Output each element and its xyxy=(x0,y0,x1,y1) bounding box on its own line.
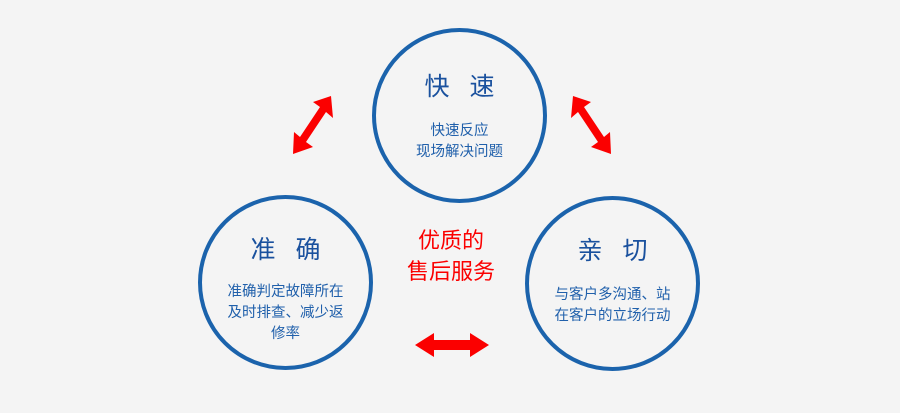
circle-accurate[interactable]: 准 确 准确判定故障所在 及时排查、减少返 修率 xyxy=(198,195,373,370)
circle-fast-title: 快 速 xyxy=(419,74,501,99)
circle-friendly-title: 亲 切 xyxy=(572,238,654,263)
diagram-canvas: 快 速 快速反应 现场解决问题 准 确 准确判定故障所在 及时排查、减少返 修率… xyxy=(0,0,900,413)
circle-accurate-title: 准 确 xyxy=(245,237,327,262)
double-arrow-horizontal-icon xyxy=(412,328,492,366)
circle-fast[interactable]: 快 速 快速反应 现场解决问题 xyxy=(372,28,547,203)
center-label: 优质的 售后服务 xyxy=(396,226,506,288)
circle-friendly-description: 与客户多沟通、站 在客户的立场行动 xyxy=(529,285,697,327)
double-arrow-ne-sw-icon xyxy=(286,92,342,176)
double-arrow-nw-se-icon xyxy=(563,92,619,176)
circle-fast-description: 快速反应 现场解决问题 xyxy=(377,121,542,163)
circle-accurate-description: 准确判定故障所在 及时排查、减少返 修率 xyxy=(206,282,366,345)
circle-friendly[interactable]: 亲 切 与客户多沟通、站 在客户的立场行动 xyxy=(525,196,700,371)
